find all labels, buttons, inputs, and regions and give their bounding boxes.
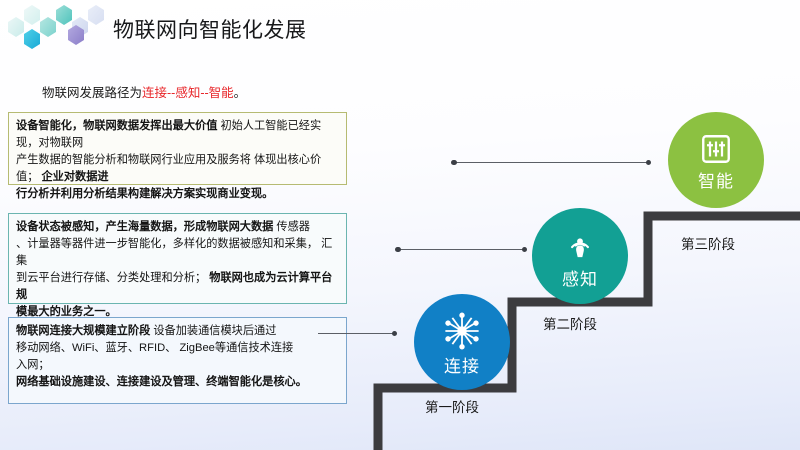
subtitle-highlight: 连接--感知--智能	[142, 86, 234, 100]
connector-dot-left	[395, 247, 401, 253]
box-line: 物联网连接大规模建立阶段 设备加装通信模块后通过	[16, 323, 339, 340]
connector-stem	[318, 333, 396, 334]
page-title: 物联网向智能化发展	[113, 14, 307, 44]
connector-line-connect	[318, 330, 396, 337]
connector-dot-left	[451, 160, 457, 166]
stage-label: 智能	[698, 173, 734, 190]
phase-label-2: 第二阶段	[543, 313, 597, 333]
connector-stem	[396, 249, 526, 250]
stage-circle-connect[interactable]: 连接	[414, 294, 510, 390]
network-hub-icon	[441, 310, 483, 357]
connector-line-sense	[396, 246, 526, 253]
phase-label-1: 第一阶段	[425, 396, 479, 416]
connector-dot-right	[646, 160, 652, 166]
chip-processor-icon	[698, 131, 734, 172]
slide-canvas: 物联网向智能化发展 物联网发展路径为连接--感知--智能。 设备智能化，物联网数…	[0, 0, 800, 450]
stage-description-sense: 设备状态被感知，产生海量数据，形成物联网大数据 传感器 、计量器等器件进一步智能…	[8, 213, 347, 304]
stage-description-smart: 设备智能化，物联网数据发挥出最大价值 初始人工智能已经实现，对物联网 产生数据的…	[8, 112, 347, 185]
phase-label-3: 第三阶段	[681, 233, 735, 253]
stage-label: 感知	[562, 271, 598, 288]
sensor-signal-icon	[560, 225, 600, 270]
box-line: 网络基础设施建设、连接建设及管理、终端智能化是核心。	[16, 374, 339, 391]
box-line: 、计量器等器件进一步智能化，多样化的数据被感知和采集， 汇集	[16, 236, 339, 270]
stage-label: 连接	[444, 358, 480, 375]
subtitle-tail: 。	[234, 86, 247, 100]
connector-line-smart	[452, 159, 650, 166]
box-line: 设备智能化，物联网数据发挥出最大价值 初始人工智能已经实现，对物联网	[16, 118, 339, 152]
box-line: 行分析并利用分析结果构建解决方案实现商业变现。	[16, 186, 339, 203]
stage-circle-smart[interactable]: 智能	[668, 112, 764, 208]
stage-circle-sense[interactable]: 感知	[532, 208, 628, 304]
box-line: 移动网络、WiFi、蓝牙、RFID、 ZigBee等通信技术连接	[16, 340, 339, 357]
box-line: 到云平台进行存储、分类处理和分析； 物联网也成为云计算平台规	[16, 270, 339, 304]
connector-dot-right	[392, 331, 398, 337]
stage-description-connect: 物联网连接大规模建立阶段 设备加装通信模块后通过 移动网络、WiFi、蓝牙、RF…	[8, 317, 347, 404]
connector-dot-right	[522, 247, 528, 253]
box-line: 产生数据的智能分析和物联网行业应用及服务将 体现出核心价值； 企业对数据进	[16, 152, 339, 186]
subtitle-lead: 物联网发展路径为	[42, 86, 142, 100]
subtitle-text: 物联网发展路径为连接--感知--智能。	[42, 82, 246, 101]
hexagon-cluster-icon	[4, 0, 119, 56]
connector-stem	[452, 162, 650, 163]
box-line: 入网；	[16, 357, 339, 374]
box-line: 设备状态被感知，产生海量数据，形成物联网大数据 传感器	[16, 219, 339, 236]
